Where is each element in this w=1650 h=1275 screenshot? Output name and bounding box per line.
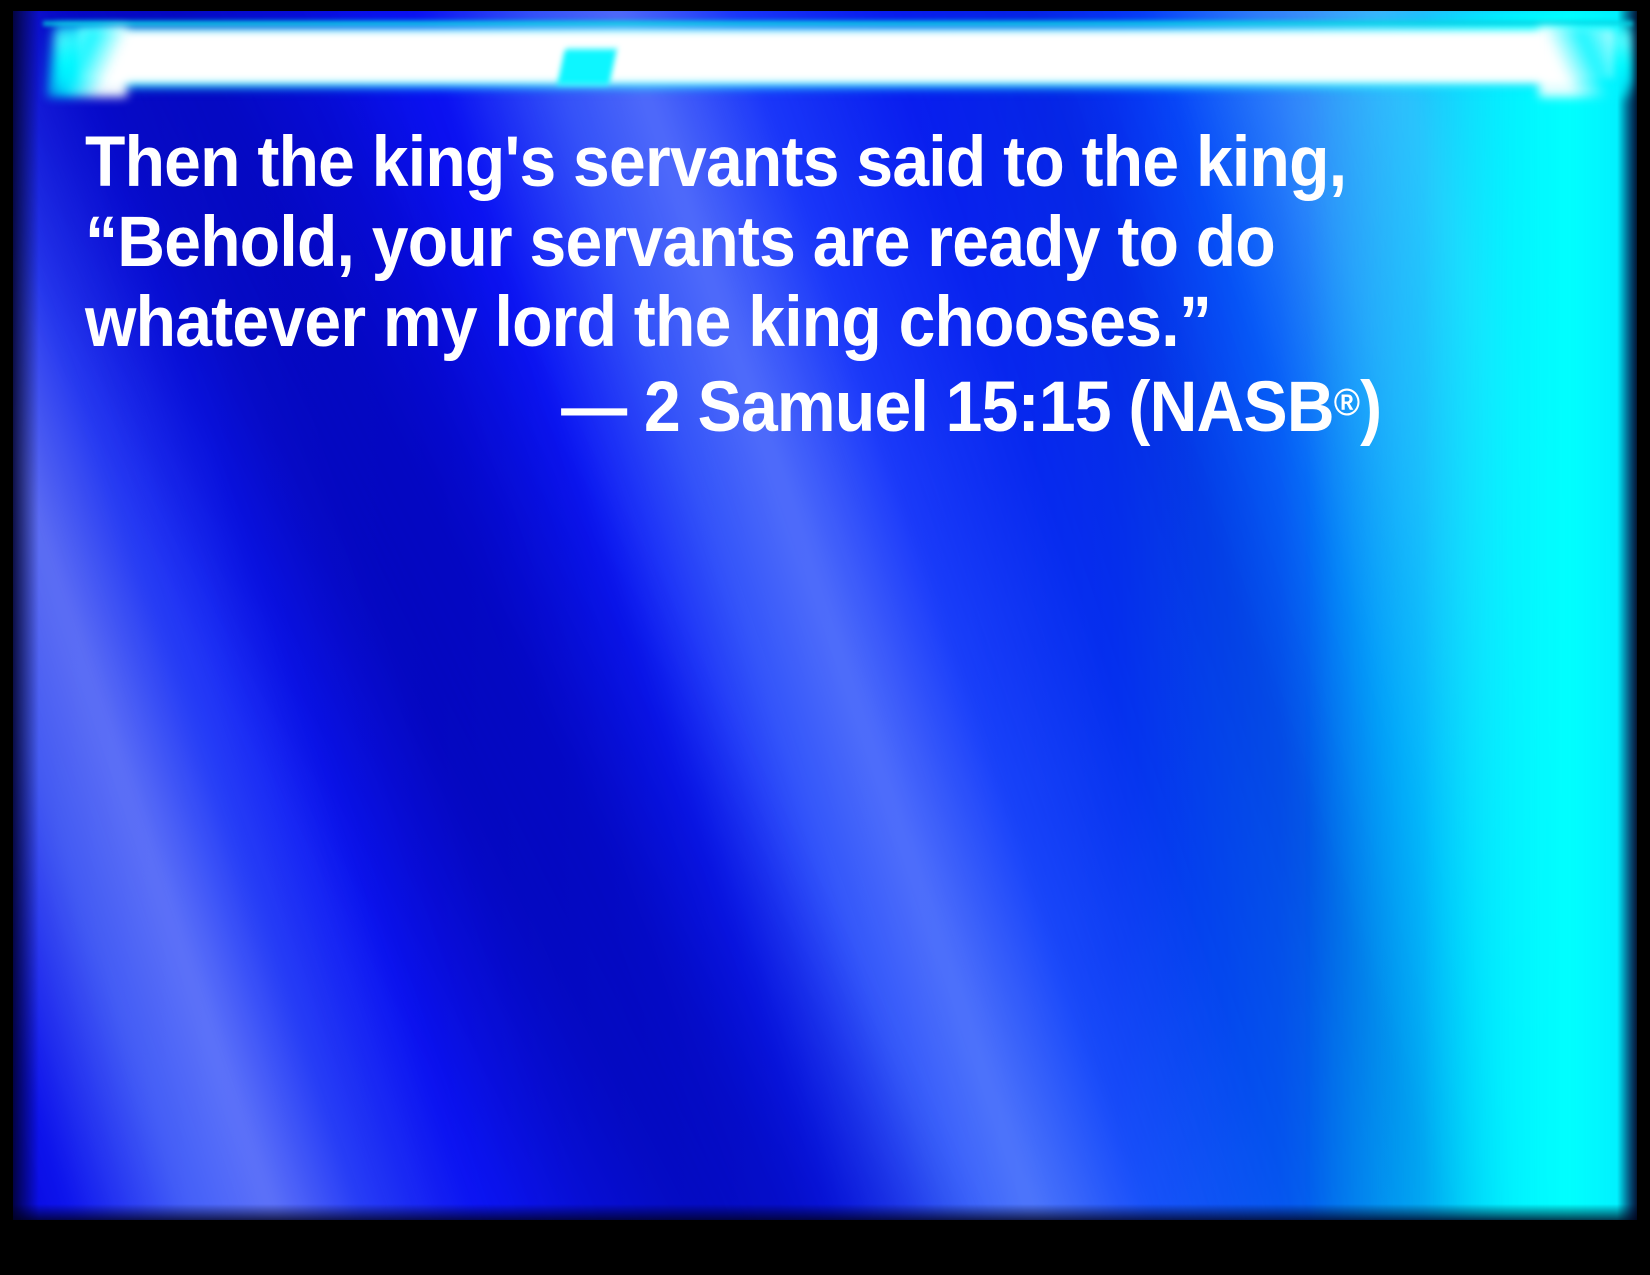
verse-line-1: Then the king's servants said to the kin… — [85, 123, 1506, 203]
slide-artwork: Then the king's servants said to the kin… — [13, 11, 1637, 1220]
registered-trademark-icon: ® — [1334, 381, 1360, 424]
verse-line-3: whatever my lord the king chooses.” — [85, 283, 1506, 363]
attribution-reference: 2 Samuel 15:15 — [644, 368, 1111, 447]
verse-line-2: “Behold, your servants are ready to do — [85, 203, 1506, 283]
background-edge-shade-bottom — [13, 1204, 1637, 1220]
verse-slide: Then the king's servants said to the kin… — [0, 0, 1650, 1275]
attribution-em-dash: — — [561, 368, 626, 447]
attribution-translation-open: (NASB — [1128, 368, 1333, 447]
attribution-translation-close: ) — [1360, 368, 1381, 447]
verse-text-block: Then the king's servants said to the kin… — [13, 11, 1637, 448]
verse-attribution: — 2 Samuel 15:15 (NASB®) — [85, 363, 1506, 448]
